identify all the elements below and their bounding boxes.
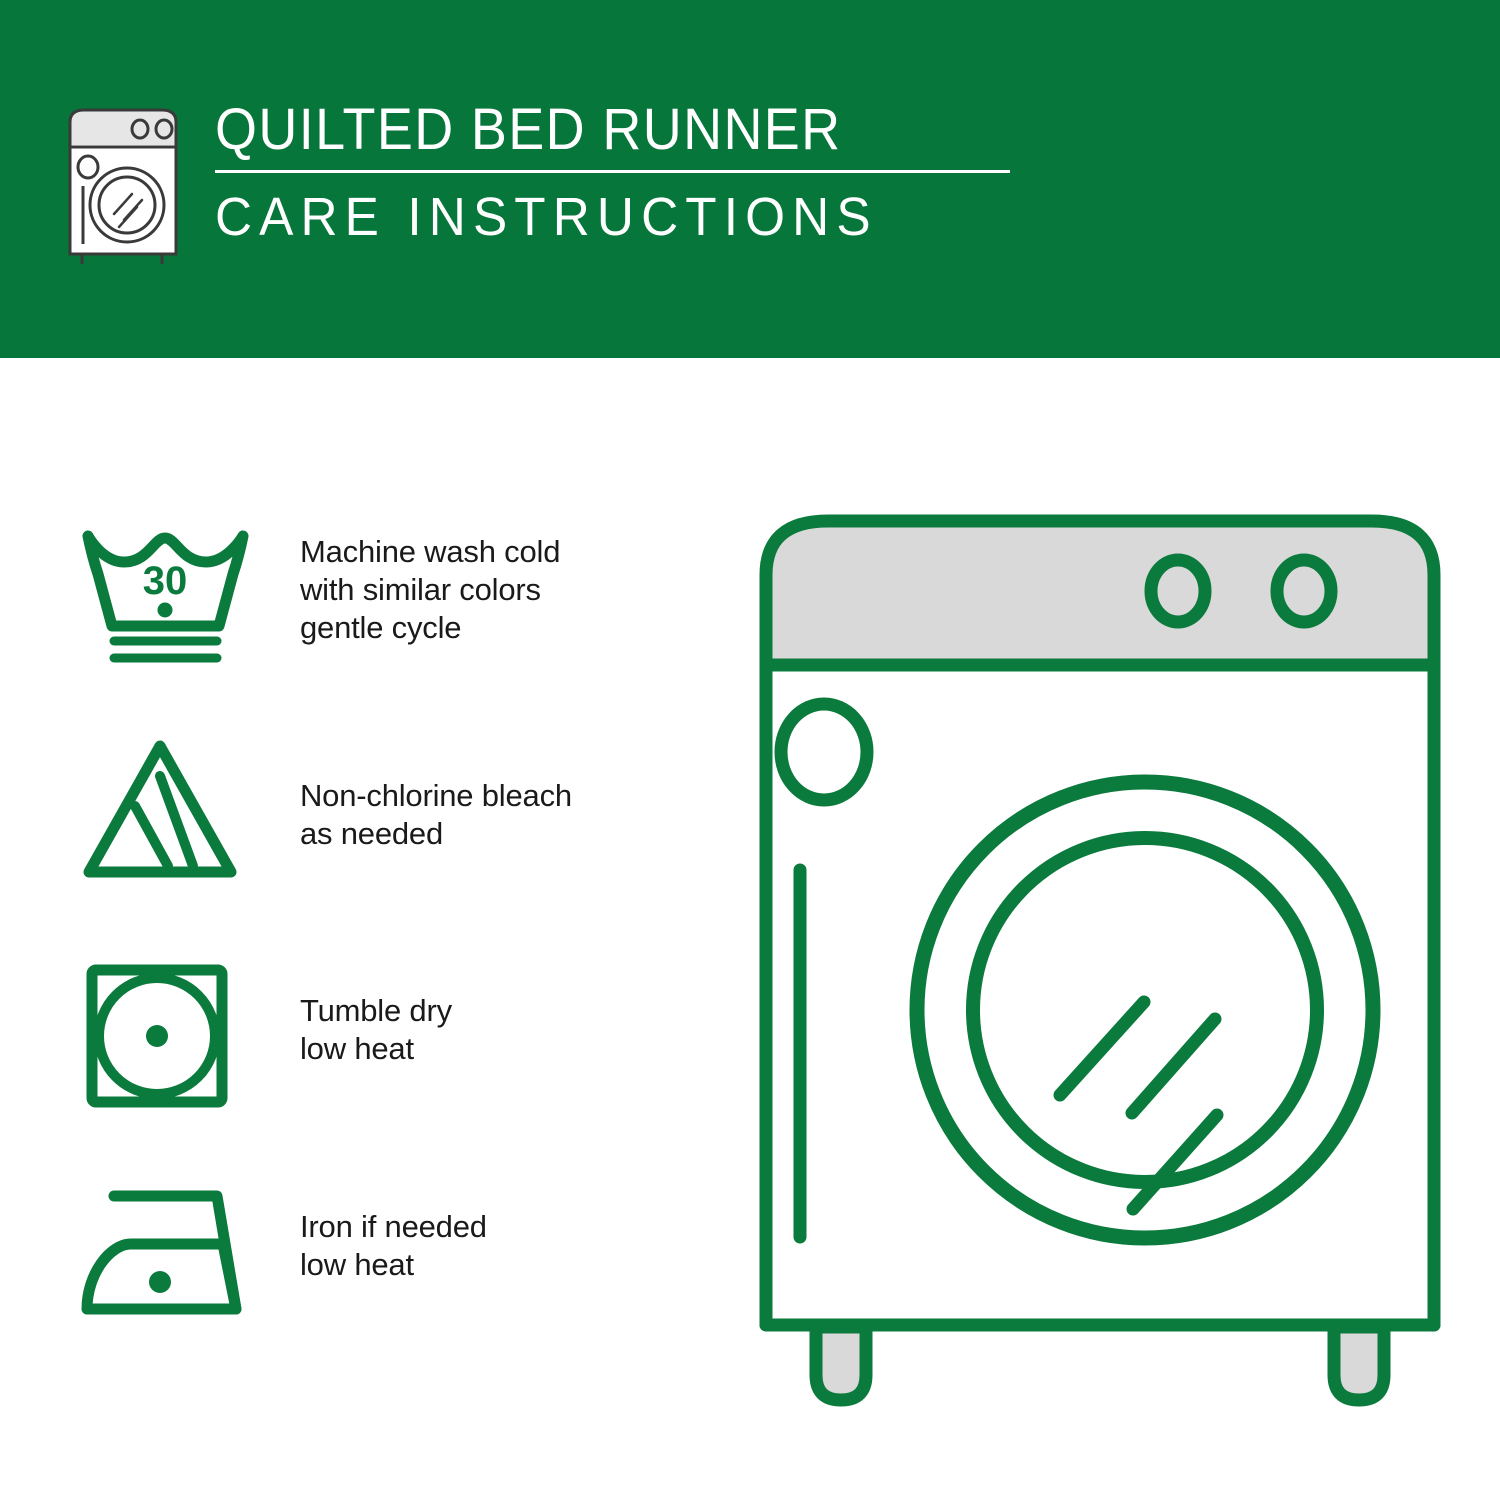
tumble-dry-dot bbox=[146, 1025, 168, 1047]
wash-temperature-label: 30 bbox=[143, 559, 188, 603]
care-instructions-list: 30 Machine wash cold with similar colors… bbox=[0, 500, 700, 1388]
washer-leg-right bbox=[1334, 1327, 1384, 1400]
care-item-label: Iron if needed low heat bbox=[300, 1208, 487, 1284]
care-label-line: Iron if needed bbox=[300, 1208, 487, 1246]
care-label-line: as needed bbox=[300, 815, 572, 853]
iron-dot bbox=[149, 1271, 171, 1293]
care-label-line: Machine wash cold bbox=[300, 533, 560, 571]
non-chlorine-bleach-triangle-icon bbox=[78, 734, 253, 884]
care-item-label: Tumble dry low heat bbox=[300, 992, 452, 1068]
header-banner: QUILTED BED RUNNER CARE INSTRUCTIONS bbox=[0, 0, 1500, 358]
iron-icon bbox=[78, 1178, 253, 1328]
care-label-line: low heat bbox=[300, 1246, 487, 1284]
care-label-line: gentle cycle bbox=[300, 609, 560, 647]
page-title: QUILTED BED RUNNER bbox=[215, 98, 968, 162]
header-text-block: QUILTED BED RUNNER CARE INSTRUCTIONS bbox=[215, 98, 1025, 247]
machine-wash-tub-icon: 30 bbox=[78, 522, 253, 672]
front-load-washing-machine-illustration bbox=[740, 495, 1460, 1415]
care-item-label: Machine wash cold with similar colors ge… bbox=[300, 533, 560, 647]
washing-machine-logo-icon bbox=[62, 104, 192, 264]
wash-dot bbox=[158, 603, 173, 618]
drum-stripe bbox=[1060, 1002, 1144, 1095]
detergent-port-icon bbox=[781, 704, 867, 800]
care-item-bleach: Non-chlorine bleach as needed bbox=[0, 722, 700, 944]
care-item-machine-wash: 30 Machine wash cold with similar colors… bbox=[0, 500, 700, 722]
title-divider-rule bbox=[215, 170, 1010, 173]
page-subtitle: CARE INSTRUCTIONS bbox=[215, 187, 985, 247]
care-item-iron: Iron if needed low heat bbox=[0, 1166, 700, 1388]
care-label-line: low heat bbox=[300, 1030, 452, 1068]
drum-stripe bbox=[1132, 1019, 1215, 1113]
care-label-line: Non-chlorine bleach bbox=[300, 777, 572, 815]
care-label-line: with similar colors bbox=[300, 571, 560, 609]
washer-leg-left bbox=[816, 1327, 866, 1400]
care-item-tumble-dry: Tumble dry low heat bbox=[0, 944, 700, 1166]
care-item-label: Non-chlorine bleach as needed bbox=[300, 777, 572, 853]
tumble-dry-icon bbox=[78, 962, 253, 1112]
drum-stripe bbox=[1133, 1115, 1217, 1209]
care-label-line: Tumble dry bbox=[300, 992, 452, 1030]
